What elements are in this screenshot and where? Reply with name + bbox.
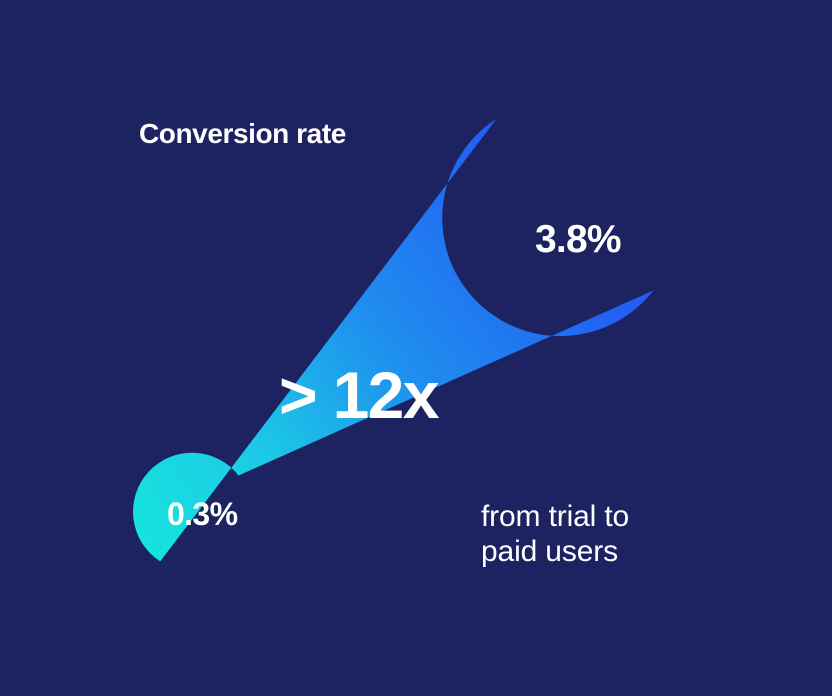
caption: from trial to paid users [481,499,629,569]
page-title: Conversion rate [139,118,346,150]
end-value-label: 3.8% [535,218,621,262]
caption-line-1: from trial to [481,499,629,534]
conversion-funnel-shape [0,0,832,696]
funnel-body [133,119,653,562]
start-value-label: 0.3% [167,496,237,533]
multiplier-label: > 12x [279,357,438,433]
caption-line-2: paid users [481,534,629,569]
conversion-rate-infographic: Conversion rate 3.8% > 12x 0.3% from tri… [0,0,832,696]
